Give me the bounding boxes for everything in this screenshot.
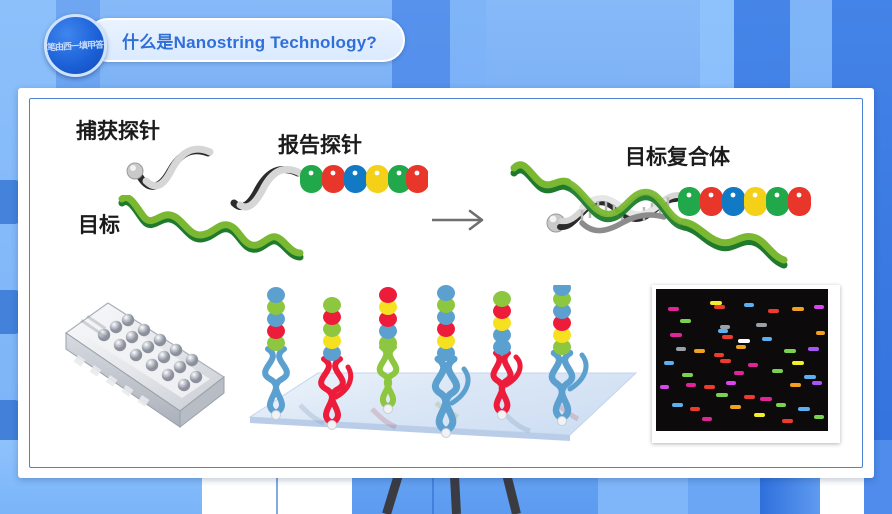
target-complex-illustration (508, 157, 838, 287)
slide-root: 什么是Nanostring Technology? 笔由西一填甲答 捕获探针 报… (0, 0, 892, 514)
slide-title-pill: 什么是Nanostring Technology? (86, 18, 405, 62)
target-strand-illustration (118, 195, 328, 267)
label-target: 目标 (78, 209, 120, 239)
panel-content-area: 捕获探针 报告探针 目标 目标复合体 (30, 99, 862, 467)
immobilized-barcodes-illustration (240, 285, 640, 455)
channel-logo-icon: 笔由西一填甲答 (44, 14, 107, 77)
complex-barcode-beads (678, 187, 811, 216)
content-panel: 捕获探针 报告探针 目标 目标复合体 (18, 88, 874, 478)
reporter-barcode-beads (300, 165, 428, 193)
logo-glyph-text: 笔由西一填甲答 (47, 39, 103, 52)
process-arrow-icon (430, 207, 492, 233)
label-reporter-probe: 报告探针 (278, 129, 362, 159)
fluorescence-micrograph (652, 285, 840, 443)
page-title: 什么是Nanostring Technology? (122, 28, 377, 53)
cartridge-illustration (60, 293, 260, 453)
